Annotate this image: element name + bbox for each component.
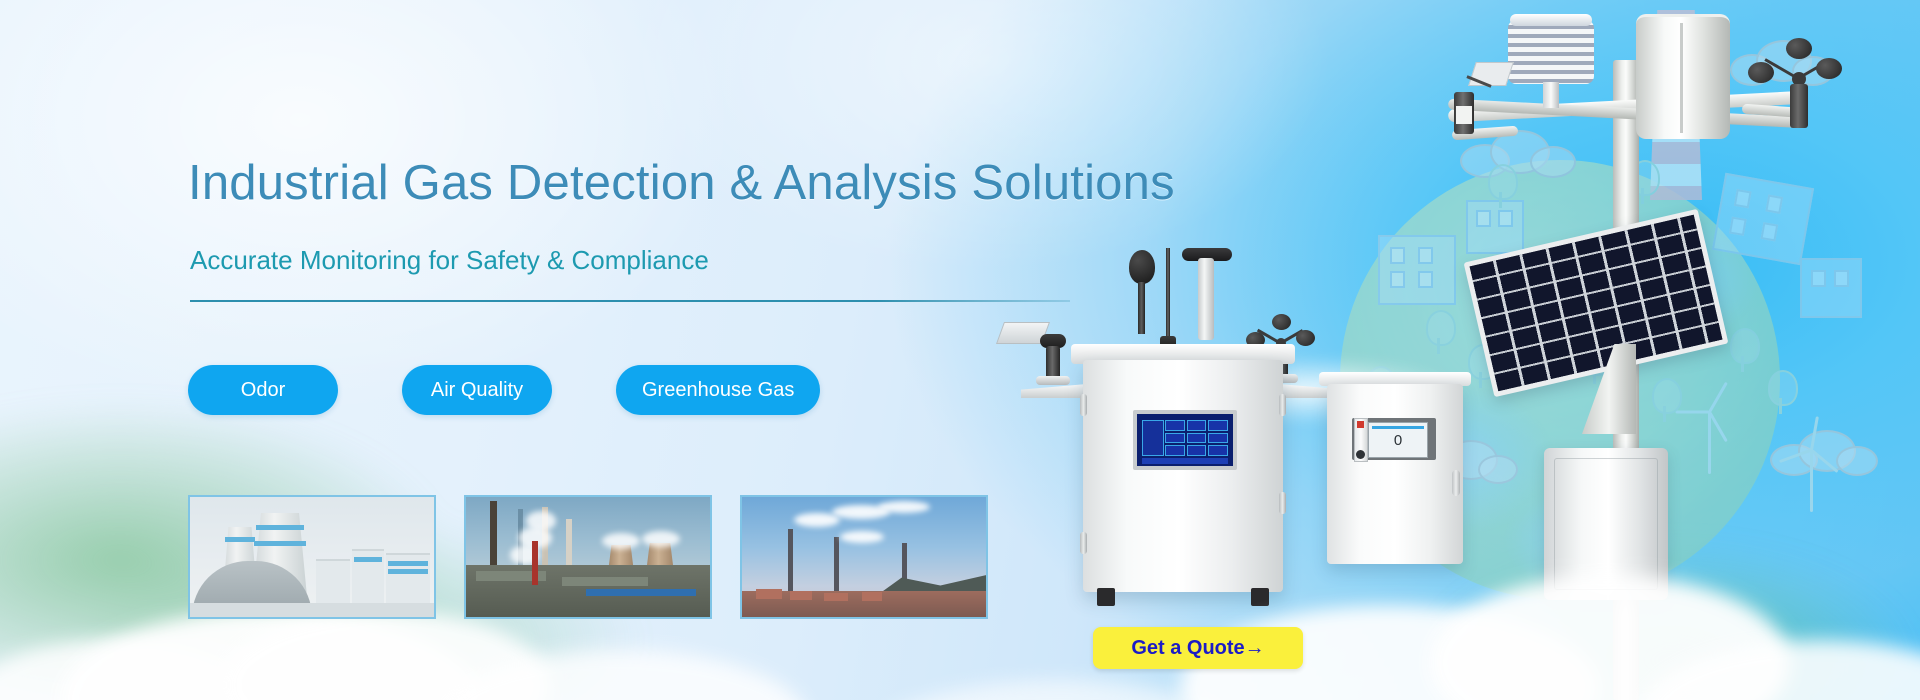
get-a-quote-button[interactable]: Get a Quote→ [1093, 627, 1303, 669]
hero-text-block: Industrial Gas Detection & Analysis Solu… [188, 0, 1108, 700]
tag-air-quality[interactable]: Air Quality [402, 365, 552, 415]
tag-odor[interactable]: Odor [188, 365, 338, 415]
station-lcd-screen [1133, 410, 1237, 470]
illustration-building [1800, 258, 1862, 318]
rotameter-flow-gauge [1354, 418, 1368, 462]
rain-gauge-cylinder [1636, 14, 1730, 139]
page-title: Industrial Gas Detection & Analysis Solu… [188, 155, 1175, 211]
black-bulb-sensor [1129, 250, 1155, 284]
thumbnail-refinery[interactable] [464, 495, 712, 619]
illustration-building [1378, 235, 1456, 305]
cabinet-handle[interactable] [1452, 470, 1460, 496]
title-divider [190, 300, 1070, 302]
thumbnail-smokestacks[interactable] [740, 495, 988, 619]
anemometer-cups [1752, 44, 1842, 114]
sampling-tube [1198, 258, 1214, 340]
analyzer-reading-value: 0 [1369, 423, 1427, 457]
antenna [1166, 248, 1170, 344]
page-subtitle: Accurate Monitoring for Safety & Complia… [190, 245, 709, 276]
illustration-building [1466, 200, 1524, 254]
analyzer-lcd-screen: 0 [1368, 422, 1428, 458]
wind-vane-sensor [1452, 62, 1524, 136]
thumbnail-power-plant[interactable] [188, 495, 436, 619]
category-tag-list: Odor Air Quality Greenhouse Gas [188, 365, 820, 415]
illustration-building [1712, 173, 1814, 265]
hero-banner: 0 Industrial Gas Detection & Analysis So… [0, 0, 1920, 700]
thumbnail-gallery [188, 495, 988, 619]
tag-greenhouse-gas[interactable]: Greenhouse Gas [616, 365, 820, 415]
